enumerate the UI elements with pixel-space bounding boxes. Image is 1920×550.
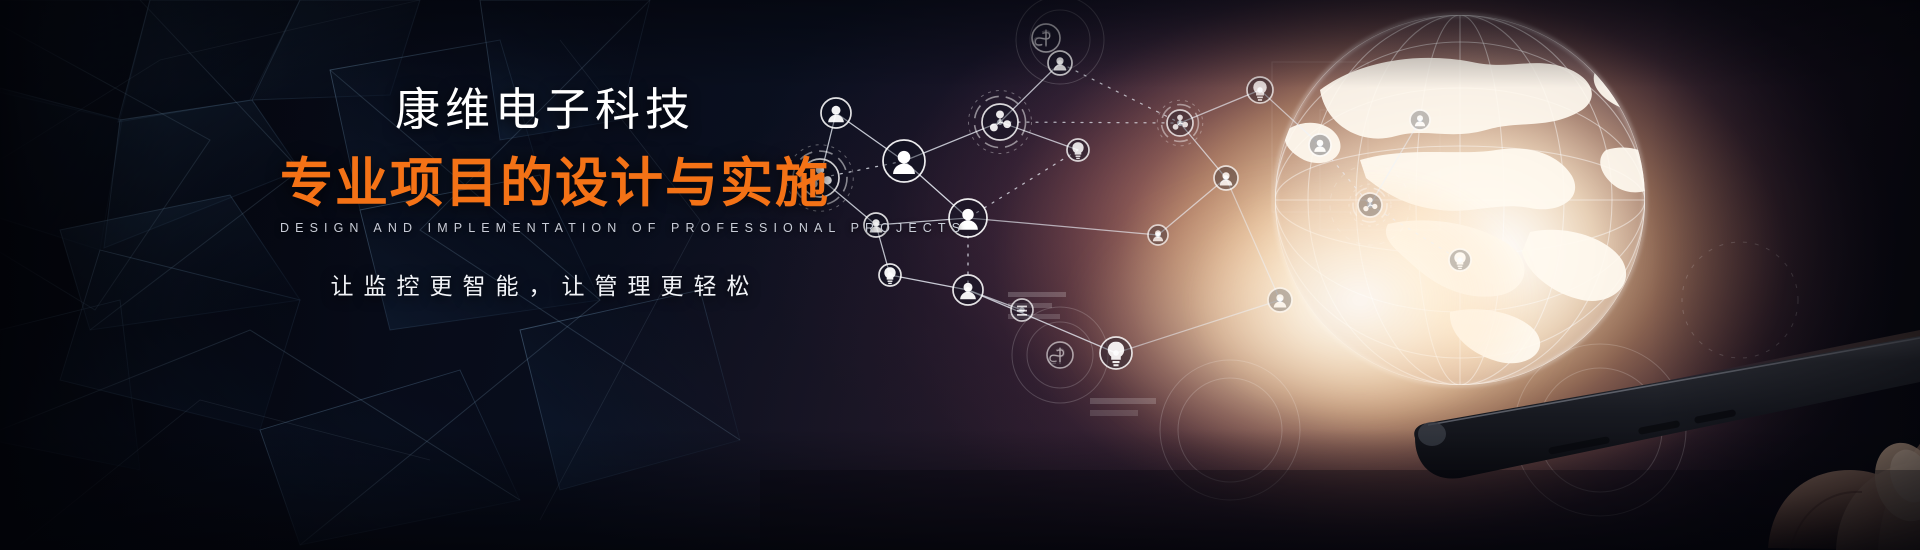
network-node [1048, 51, 1072, 75]
network-node [1214, 166, 1238, 190]
network-node [1032, 24, 1060, 52]
network-node [821, 98, 851, 128]
network-node [1309, 134, 1331, 156]
network-node [1410, 110, 1430, 130]
hero-subtitle-en: DESIGN AND IMPLEMENTATION OF PROFESSIONA… [280, 221, 810, 235]
network-node [879, 264, 901, 286]
list-icon [1017, 306, 1027, 316]
hero-copy: 康维电子科技 专业项目的设计与实施 DESIGN AND IMPLEMENTAT… [280, 86, 810, 301]
network-node [1047, 342, 1073, 368]
network-node [1067, 139, 1089, 161]
network-node [1148, 225, 1168, 245]
network-node [1247, 77, 1273, 103]
network-node [1449, 249, 1471, 271]
network-node [883, 140, 925, 182]
network-node [953, 275, 983, 305]
hero-headline: 专业项目的设计与实施 [280, 157, 810, 211]
network-node [1268, 288, 1292, 312]
hero-tagline: 让监控更智能，让管理更轻松 [280, 267, 810, 301]
company-title: 康维电子科技 [280, 86, 810, 133]
network-node [1011, 299, 1033, 321]
network-node [1100, 337, 1132, 369]
globe-network-graphic [760, 0, 1920, 550]
hero-banner: 康维电子科技 专业项目的设计与实施 DESIGN AND IMPLEMENTAT… [0, 0, 1920, 550]
